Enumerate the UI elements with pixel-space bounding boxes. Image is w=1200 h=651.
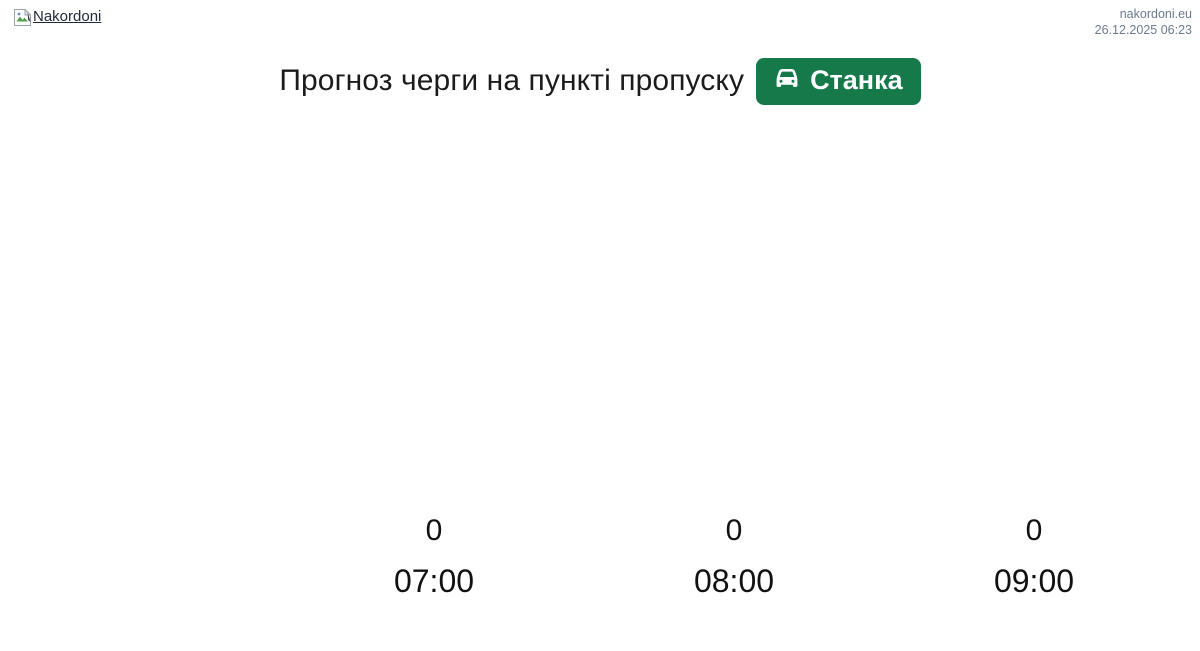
x-axis-tick-label: 08:00 (694, 563, 774, 599)
page-title: Прогноз черги на пункті пропуску (279, 62, 744, 100)
checkpoint-badge-label: Станка (810, 65, 903, 96)
x-axis-tick-label: 09:00 (994, 563, 1074, 599)
timestamp: 26.12.2025 06:23 (1095, 22, 1192, 38)
chart-bars-row: 0 0 0 (284, 115, 1184, 555)
broken-image-icon (14, 9, 31, 26)
chart-x-axis: 07:00 08:00 09:00 (284, 561, 1184, 607)
bar-value-label: 0 (426, 513, 443, 549)
chart-bar-column[interactable]: 0 (884, 115, 1184, 555)
x-axis-tick-label: 07:00 (394, 563, 474, 599)
x-axis-tick: 07:00 (284, 561, 584, 607)
bar-value-label: 0 (1026, 513, 1043, 549)
bar-value-label: 0 (726, 513, 743, 549)
queue-forecast-chart: 0 0 0 07:00 08:00 09:00 (0, 115, 1200, 615)
chart-bar-column[interactable]: 0 (284, 115, 584, 555)
x-axis-tick: 08:00 (584, 561, 884, 607)
car-front-icon (772, 67, 802, 93)
header-meta: nakordoni.eu 26.12.2025 06:23 (1095, 6, 1192, 38)
brand-logo-alt-text: Nakordoni (33, 8, 101, 26)
chart-plot-area: 0 0 0 (0, 115, 1200, 555)
page-title-row: Прогноз черги на пункті пропуску Станка (0, 55, 1200, 107)
x-axis-tick: 09:00 (884, 561, 1184, 607)
site-name: nakordoni.eu (1095, 6, 1192, 22)
brand-logo-link[interactable]: Nakordoni (14, 8, 101, 26)
checkpoint-badge[interactable]: Станка (756, 58, 921, 105)
page-header: Nakordoni nakordoni.eu 26.12.2025 06:23 (0, 0, 1200, 48)
chart-bar-column[interactable]: 0 (584, 115, 884, 555)
